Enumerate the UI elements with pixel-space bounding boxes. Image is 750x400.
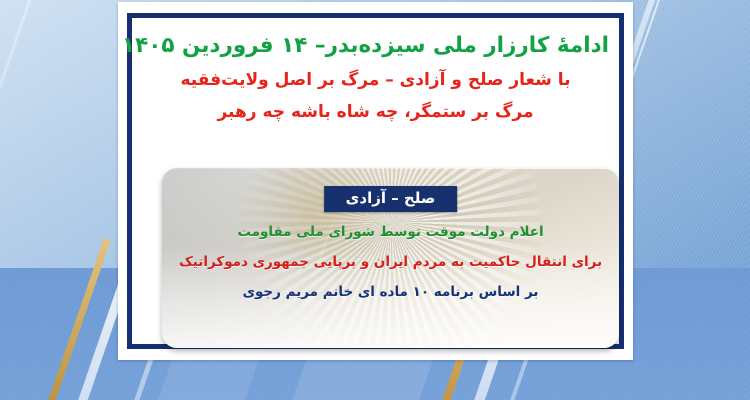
banner-line-red: برای انتقال حاکمیت به مردم ایران و برپای… [162,254,619,272]
poster-card-border: ادامۀ کارزار ملی سیزده‌بدر– ۱۴ فروردین ۱… [127,13,624,349]
banner-line-blue: بر اساس برنامه ۱۰ ماده ای خانم مریم رجوی [162,284,619,302]
poster-card: ادامۀ کارزار ملی سیزده‌بدر– ۱۴ فروردین ۱… [118,2,633,360]
banner-line-green: اعلام دولت موقت توسط شورای ملی مقاومت [162,224,619,242]
embedded-banner-image: صلح – آزادی اعلام دولت موقت توسط شورای م… [162,168,619,348]
banner-text-content: صلح – آزادی اعلام دولت موقت توسط شورای م… [162,168,619,348]
headline-block: ادامۀ کارزار ملی سیزده‌بدر– ۱۴ فروردین ۱… [142,26,609,124]
peace-freedom-badge: صلح – آزادی [324,186,458,212]
headline-slogan: با شعار صلح و آزادی – مرگ بر اصل ولایت‌ف… [142,68,609,93]
screenshot-stage: ادامۀ کارزار ملی سیزده‌بدر– ۱۴ فروردین ۱… [0,0,750,400]
headline-chant: مرگ بر ستمگر، چه شاه باشه چه رهبر [142,100,609,125]
headline-date-campaign: ادامۀ کارزار ملی سیزده‌بدر– ۱۴ فروردین ۱… [142,30,609,61]
